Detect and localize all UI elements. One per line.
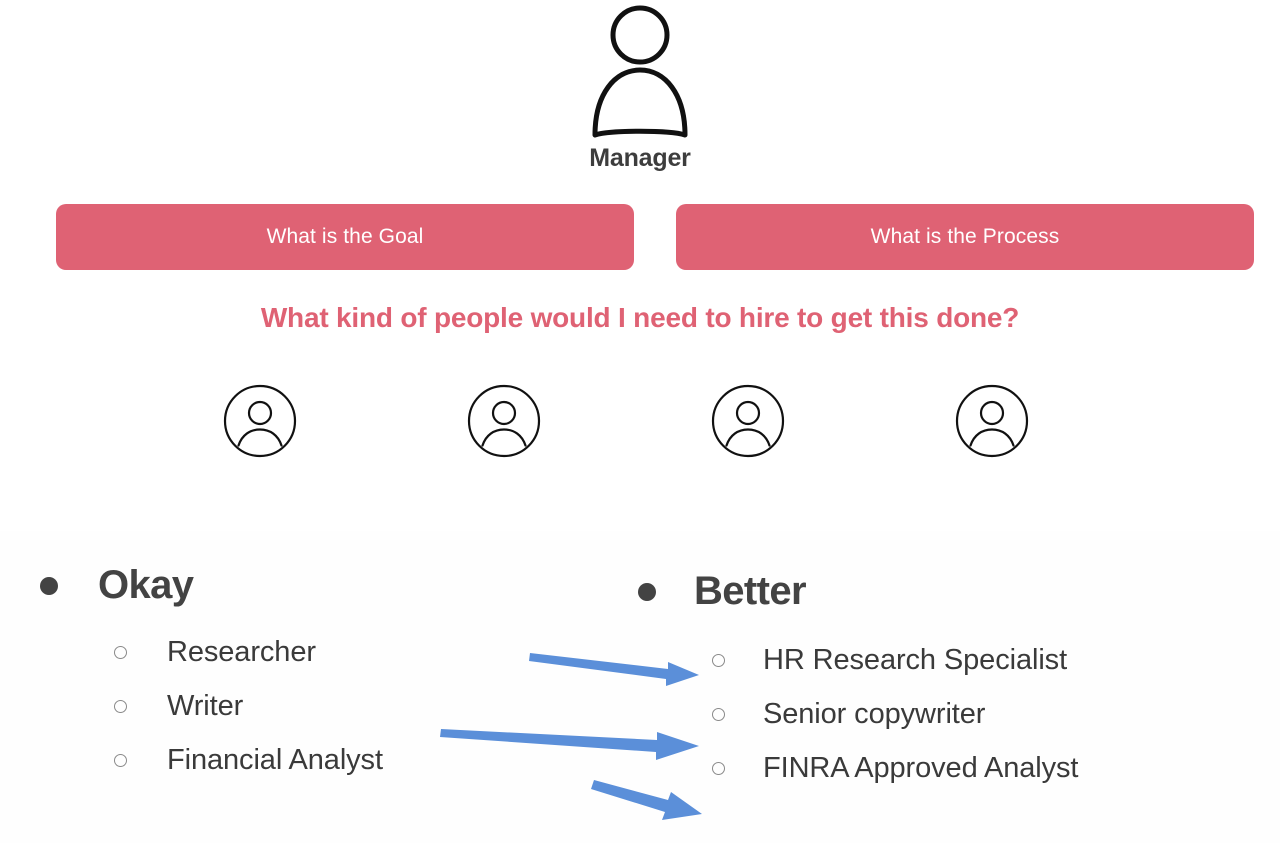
okay-title: Okay xyxy=(98,563,193,608)
hollow-bullet-icon xyxy=(712,654,725,667)
list-item[interactable]: Writer xyxy=(114,679,383,733)
hollow-bullet-icon xyxy=(114,754,127,767)
better-role-list: HR Research Specialist Senior copywriter… xyxy=(712,633,1078,795)
better-role-label: HR Research Specialist xyxy=(763,644,1067,677)
what-is-the-goal-button[interactable]: What is the Goal xyxy=(56,204,634,270)
hollow-bullet-icon xyxy=(712,708,725,721)
filled-bullet-icon xyxy=(638,583,656,601)
list-item[interactable]: FINRA Approved Analyst xyxy=(712,741,1078,795)
list-item[interactable]: Senior copywriter xyxy=(712,687,1078,741)
manager-block: Manager xyxy=(0,2,1280,173)
team-member-avatar-icon-1 xyxy=(222,383,298,459)
question-button-row: What is the Goal What is the Process xyxy=(56,204,1254,270)
bottom-slide: Okay Researcher Writer Financial Analyst xyxy=(0,531,1280,843)
top-slide: Manager What is the Goal What is the Pro… xyxy=(0,0,1280,531)
list-item[interactable]: HR Research Specialist xyxy=(712,633,1078,687)
team-avatar-row xyxy=(222,383,1030,459)
hollow-bullet-icon xyxy=(712,762,725,775)
okay-role-list: Researcher Writer Financial Analyst xyxy=(114,625,383,787)
okay-role-label: Writer xyxy=(167,690,243,723)
better-title: Better xyxy=(694,569,806,614)
better-role-label: Senior copywriter xyxy=(763,698,985,731)
better-group-header: Better xyxy=(638,569,806,614)
team-member-avatar-icon-2 xyxy=(466,383,542,459)
better-role-label: FINRA Approved Analyst xyxy=(763,752,1078,785)
manager-person-icon xyxy=(585,2,695,142)
manager-label: Manager xyxy=(0,144,1280,173)
team-member-avatar-icon-3 xyxy=(710,383,786,459)
slide-page: Manager What is the Goal What is the Pro… xyxy=(0,0,1280,843)
okay-role-label: Researcher xyxy=(167,636,316,669)
list-item[interactable]: Researcher xyxy=(114,625,383,679)
hollow-bullet-icon xyxy=(114,646,127,659)
okay-group-header: Okay xyxy=(40,563,193,608)
list-item[interactable]: Financial Analyst xyxy=(114,733,383,787)
okay-role-label: Financial Analyst xyxy=(167,744,383,777)
what-is-the-process-button[interactable]: What is the Process xyxy=(676,204,1254,270)
team-member-avatar-icon-4 xyxy=(954,383,1030,459)
hollow-bullet-icon xyxy=(114,700,127,713)
hiring-question-text: What kind of people would I need to hire… xyxy=(0,302,1280,334)
filled-bullet-icon xyxy=(40,577,58,595)
